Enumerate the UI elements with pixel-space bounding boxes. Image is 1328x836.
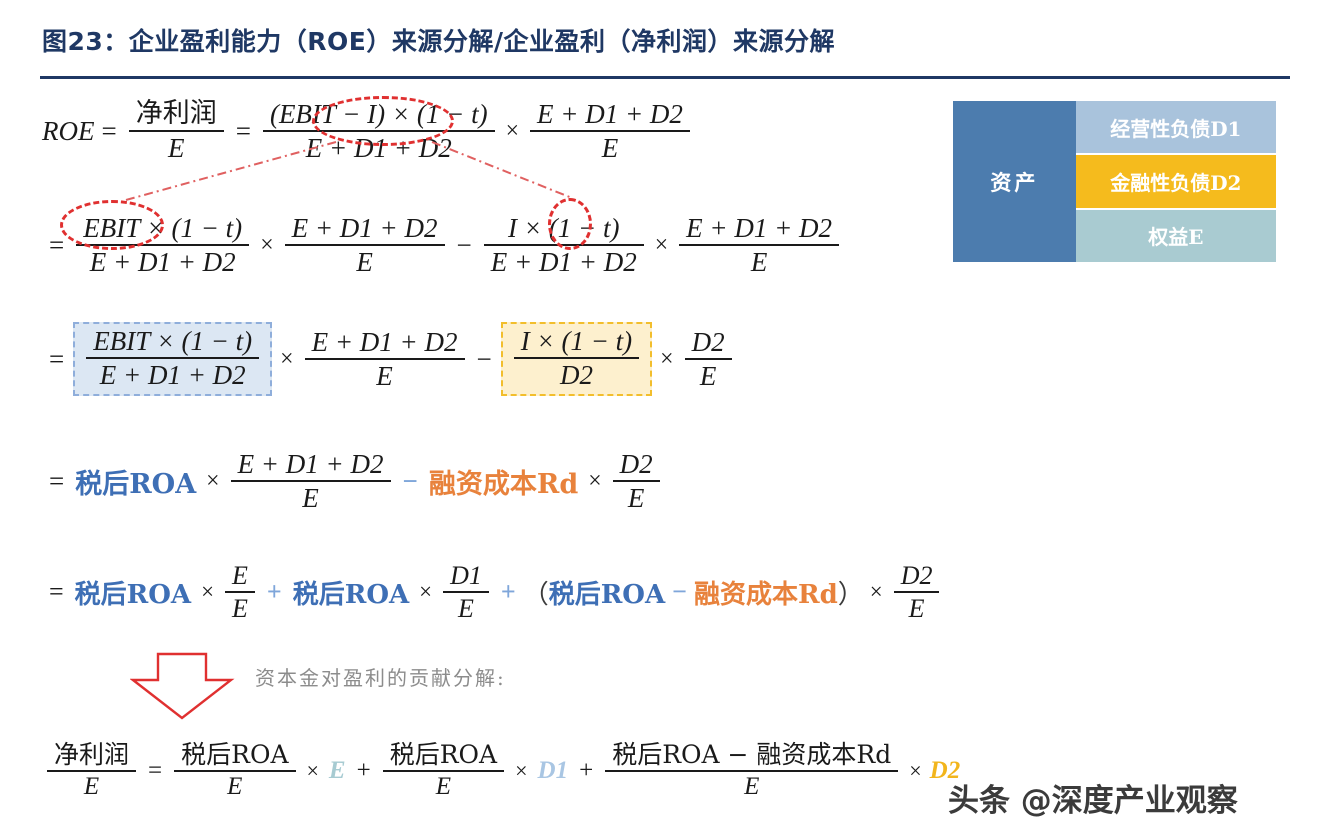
times-sign: ×: [413, 579, 438, 605]
paren-close: ）: [838, 574, 864, 611]
paren-open: （: [523, 574, 549, 611]
balance-sheet-row-d1: 经营性负债D1: [1076, 101, 1276, 155]
times-sign: ×: [864, 579, 889, 605]
line3-frac2-denominator: E: [369, 360, 400, 392]
highlight-box-after-tax-roa: EBIT × (1 − t) E + D1 + D2: [73, 322, 272, 396]
line3-frac1-numerator: EBIT × (1 − t): [86, 325, 259, 357]
line1-frac2-denominator: E + D1 + D2: [299, 132, 459, 164]
times-sign: ×: [301, 758, 325, 784]
line2-fraction-3: I × (1 − t) E + D1 + D2: [484, 212, 644, 278]
plus-sign: +: [572, 757, 600, 785]
line4-frac1-denominator: E: [295, 482, 326, 514]
line6-frac1-numerator: 净利润: [47, 740, 136, 770]
eq-sign: =: [42, 230, 71, 261]
minus-sign: −: [450, 230, 479, 261]
line6-frac3-numerator: 税后ROA: [383, 740, 504, 770]
line3-frac3-denominator: D2: [553, 359, 600, 391]
eq-sign: =: [229, 116, 258, 147]
line6-frac2-denominator: E: [220, 772, 249, 802]
line2-tax-factor: × (1 − t): [147, 213, 243, 243]
line5-financing-cost: 融资成本Rd: [694, 574, 838, 611]
plus-sign: +: [350, 757, 378, 785]
line6-equity-var: E: [325, 757, 350, 785]
line6-frac4-numerator: 税后ROA − 融资成本Rd: [605, 740, 898, 770]
times-sign: ×: [509, 758, 533, 784]
page-header: 图23：企业盈利能力（ROE）来源分解/企业盈利（净利润）来源分解: [0, 0, 1328, 82]
contribution-note: 资本金对盈利的贡献分解:: [255, 662, 506, 691]
times-sign: ×: [254, 232, 279, 259]
line3-fraction-4: D2 E: [685, 326, 732, 392]
times-sign: ×: [903, 758, 927, 784]
times-sign: ×: [195, 579, 220, 605]
line4-fraction-1: E + D1 + D2 E: [231, 448, 391, 514]
line5-frac1-numerator: E: [225, 560, 255, 591]
line2-fraction-1: EBIT × (1 − t) E + D1 + D2: [76, 212, 249, 278]
line1-lhs: ROE: [42, 116, 94, 147]
line5-fraction-2: D1 E: [443, 560, 489, 624]
times-sign: ×: [200, 468, 225, 495]
line2-frac2-numerator: E + D1 + D2: [285, 212, 445, 244]
line2-ebit: EBIT: [83, 213, 140, 243]
line6-frac1-denominator: E: [77, 772, 106, 802]
eq-sign: =: [141, 757, 169, 785]
title-underline: [40, 76, 1290, 79]
line2-frac1-denominator: E + D1 + D2: [83, 246, 243, 278]
line5-frac3-numerator: D2: [894, 560, 940, 591]
equation-line-6: 净利润 E = 税后ROA E × E + 税后ROA E × D1 + 税后R…: [42, 740, 962, 802]
times-sign: ×: [274, 346, 299, 373]
line1-frac3-numerator: E + D1 + D2: [530, 98, 690, 130]
line2-frac3-numerator: I × (1 − t): [501, 212, 626, 244]
down-arrow-icon: [130, 650, 240, 722]
eq-sign: =: [42, 344, 71, 375]
equation-line-2: = EBIT × (1 − t) E + D1 + D2 × E + D1 + …: [42, 212, 844, 278]
line3-frac3-numerator: I × (1 − t): [514, 325, 639, 357]
line1-frac2-numerator: (EBIT − I) × (1 − t): [263, 98, 495, 130]
plus-sign: +: [494, 577, 523, 607]
line4-fraction-2: D2 E: [613, 448, 660, 514]
line1-frac1-denominator: E: [161, 132, 192, 164]
line2-frac2-denominator: E: [349, 246, 380, 278]
balance-sheet-row-equity: 权益E: [1076, 210, 1276, 262]
line6-d1-var: D1: [534, 757, 573, 785]
line1-frac3-denominator: E: [595, 132, 626, 164]
line2-frac1-numerator: EBIT × (1 − t): [76, 212, 249, 244]
line5-fraction-3: D2 E: [894, 560, 940, 624]
times-sign: ×: [649, 232, 674, 259]
equation-line-5: = 税后ROA × E E + 税后ROA × D1 E + （ 税后ROA −…: [42, 560, 944, 624]
line3-frac4-denominator: E: [693, 360, 724, 392]
line2-frac4-denominator: E: [744, 246, 775, 278]
eq-sign: =: [42, 577, 71, 607]
line2-frac4-numerator: E + D1 + D2: [679, 212, 839, 244]
eq-sign: =: [42, 466, 71, 497]
line6-frac3-denominator: E: [429, 772, 458, 802]
line5-after-tax-roa-3: 税后ROA: [549, 574, 665, 611]
line3-fraction-2: E + D1 + D2 E: [305, 326, 465, 392]
line5-after-tax-roa-2: 税后ROA: [289, 574, 413, 611]
line5-after-tax-roa-1: 税后ROA: [71, 574, 195, 611]
line2-frac3-denominator: E + D1 + D2: [484, 246, 644, 278]
balance-sheet-asset-cell: 资产: [953, 101, 1076, 262]
line6-fraction-3: 税后ROA E: [383, 740, 504, 802]
line6-fraction-1: 净利润 E: [47, 740, 136, 802]
line1-frac1-numerator: 净利润: [129, 98, 224, 130]
line5-fraction-1: E E: [225, 560, 255, 624]
eq-sign: =: [94, 116, 123, 147]
line6-fraction-4: 税后ROA − 融资成本Rd E: [605, 740, 898, 802]
equation-line-4: = 税后ROA × E + D1 + D2 E − 融资成本Rd × D2 E: [42, 448, 665, 514]
line4-frac2-numerator: D2: [613, 448, 660, 480]
line3-fraction-1: EBIT × (1 − t) E + D1 + D2: [86, 325, 259, 391]
watermark: 头条 @深度产业观察: [948, 775, 1238, 820]
times-sign: ×: [582, 468, 607, 495]
line5-frac1-denominator: E: [225, 593, 255, 624]
balance-sheet-liability-column: 经营性负债D1 金融性负债D2 权益E: [1076, 101, 1276, 262]
line2-fraction-2: E + D1 + D2 E: [285, 212, 445, 278]
line4-frac2-denominator: E: [621, 482, 652, 514]
balance-sheet-diagram: 资产 经营性负债D1 金融性负债D2 权益E: [952, 100, 1277, 263]
line1-fraction-2: (EBIT − I) × (1 − t) E + D1 + D2: [263, 98, 495, 164]
line3-frac1-denominator: E + D1 + D2: [93, 359, 253, 391]
plus-sign: +: [260, 577, 289, 607]
line5-frac2-denominator: E: [451, 593, 481, 624]
line4-financing-cost: 融资成本Rd: [425, 462, 582, 501]
line6-fraction-2: 税后ROA E: [174, 740, 295, 802]
line2-tax-factor-2: × (1 − t): [524, 213, 620, 243]
line1-fraction-1: 净利润 E: [129, 98, 224, 164]
line1-fraction-3: E + D1 + D2 E: [530, 98, 690, 164]
equation-line-1: ROE = 净利润 E = (EBIT − I) × (1 − t) E + D…: [42, 98, 695, 164]
line6-frac2-numerator: 税后ROA: [174, 740, 295, 770]
highlight-box-financing-cost: I × (1 − t) D2: [501, 322, 652, 396]
minus-sign: −: [470, 344, 499, 375]
equation-line-3: = EBIT × (1 − t) E + D1 + D2 × E + D1 + …: [42, 322, 737, 396]
line3-fraction-3: I × (1 − t) D2: [514, 325, 639, 391]
line5-frac2-numerator: D1: [443, 560, 489, 591]
line2-interest: I: [508, 213, 517, 243]
minus-sign: −: [665, 577, 694, 607]
times-sign: ×: [654, 346, 679, 373]
line3-frac2-numerator: E + D1 + D2: [305, 326, 465, 358]
line5-frac3-denominator: E: [902, 593, 932, 624]
line2-fraction-4: E + D1 + D2 E: [679, 212, 839, 278]
page-title: 图23：企业盈利能力（ROE）来源分解/企业盈利（净利润）来源分解: [42, 22, 835, 58]
line6-frac4-denominator: E: [737, 772, 766, 802]
times-sign: ×: [500, 118, 525, 145]
line3-frac4-numerator: D2: [685, 326, 732, 358]
minus-sign: −: [396, 466, 425, 497]
line4-after-tax-roa: 税后ROA: [71, 462, 200, 501]
line4-frac1-numerator: E + D1 + D2: [231, 448, 391, 480]
balance-sheet-row-d2: 金融性负债D2: [1076, 155, 1276, 209]
